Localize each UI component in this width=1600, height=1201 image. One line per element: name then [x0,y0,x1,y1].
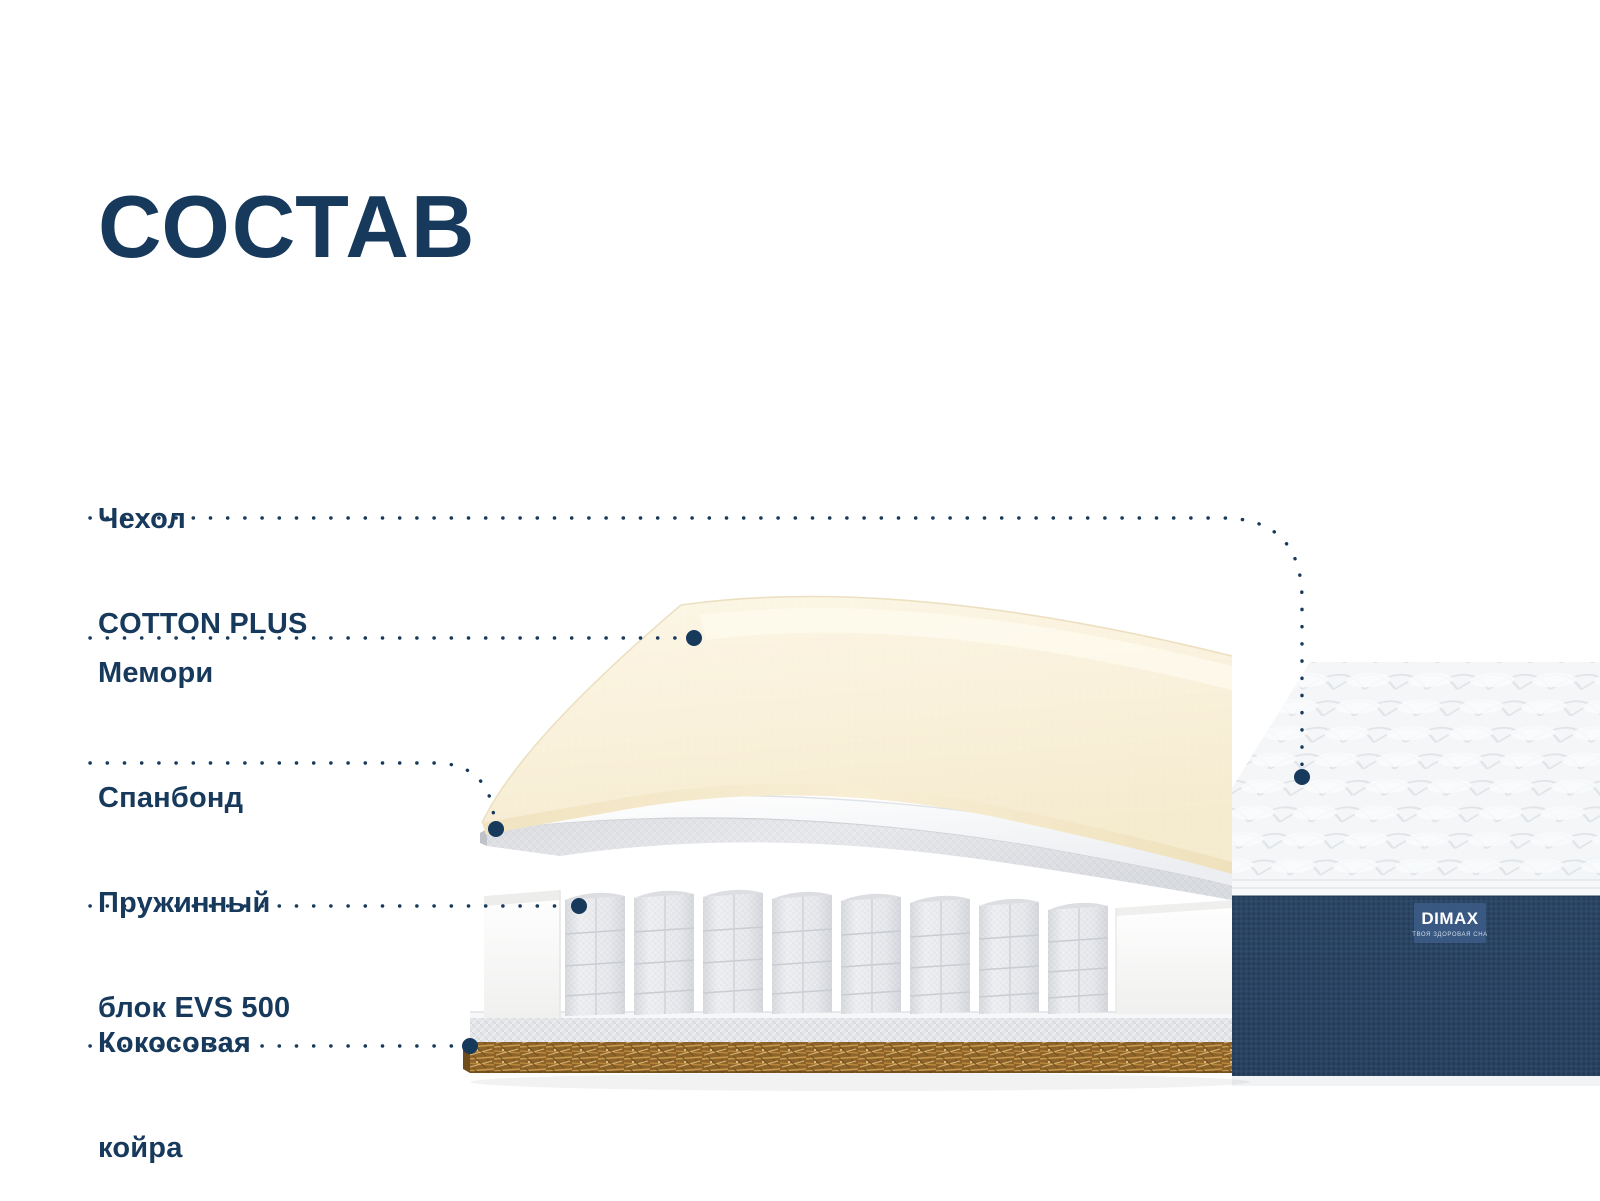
label-coir-line1: Кокосовая [98,1026,251,1061]
mattress-finished-body: DIMAX ТВОЯ ЗДОРОВАЯ СНА [1232,662,1600,1086]
brand-tag: DIMAX ТВОЯ ЗДОРОВАЯ СНА [1412,903,1488,943]
composition-infographic: DIMAX ТВОЯ ЗДОРОВАЯ СНА СОСТАВ Чехол COT… [0,0,1600,1201]
label-coir-line2: койра [98,1131,251,1166]
layer-coconut-coir [463,1040,1232,1073]
label-spunbond-line1: Спанбонд [98,781,243,816]
label-spring-block-line1: Пружинный [98,886,290,921]
brand-tag-label: DIMAX [1421,909,1478,928]
layer-base-felt-sheet [470,1012,1232,1042]
brand-tag-sub: ТВОЯ ЗДОРОВАЯ СНА [1412,932,1488,938]
label-cover-line1: Чехол [98,502,308,537]
page-title: СОСТАВ [98,183,476,271]
pocket-springs-row [565,890,1108,1016]
label-memory-line1: Мемори [98,656,213,691]
label-coconut-coir: Кокосовая койра [98,956,251,1201]
layer-spring-block [484,890,1232,1018]
